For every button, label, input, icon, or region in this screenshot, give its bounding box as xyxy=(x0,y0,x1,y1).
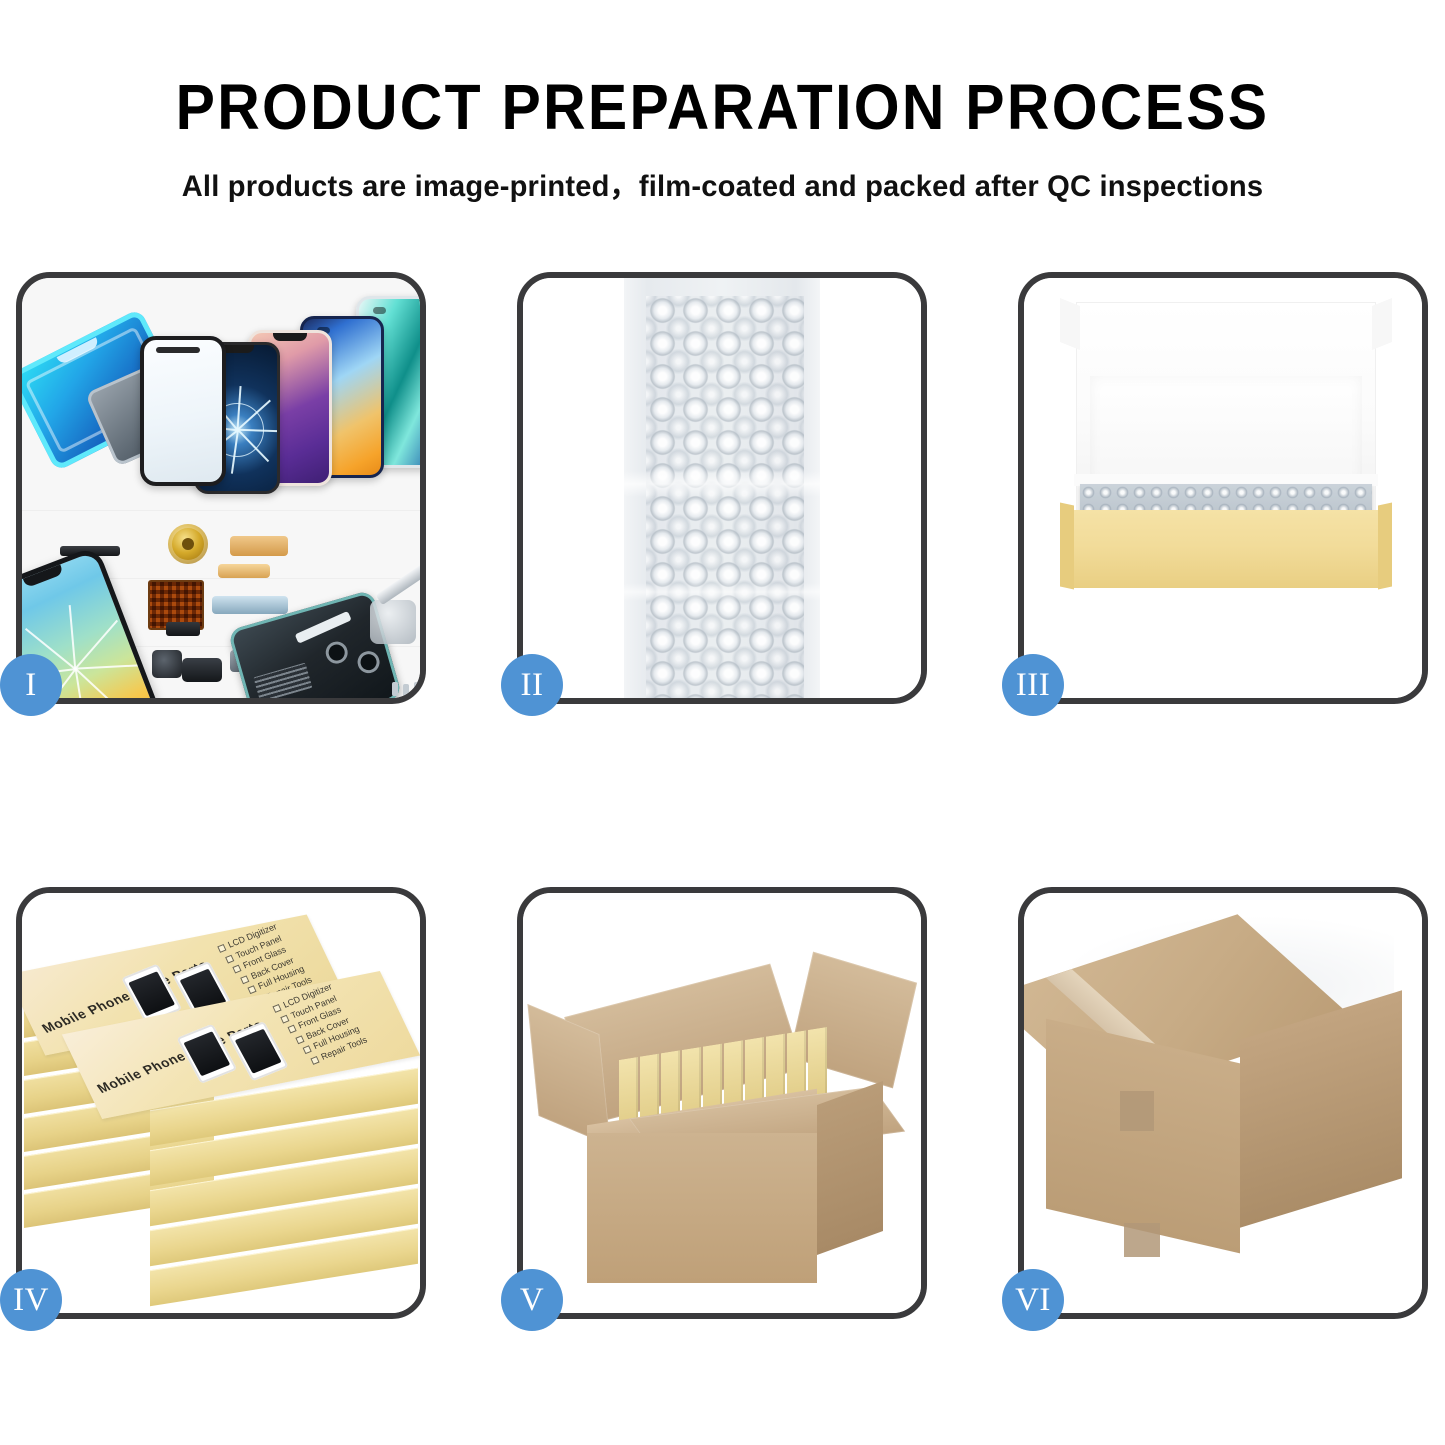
sealed-shipping-carton xyxy=(1024,893,1422,1313)
process-step-3[interactable]: III xyxy=(1018,272,1428,704)
wrap-sheen-upper xyxy=(624,471,820,497)
flex-cable-a xyxy=(230,536,288,556)
infographic-page: PRODUCT PREPARATION PROCESS All products… xyxy=(0,0,1445,1445)
screws-component xyxy=(392,682,420,696)
microphone-component xyxy=(166,622,200,636)
step-3-photo xyxy=(1024,278,1422,698)
step-5-photo xyxy=(523,893,921,1313)
flex-cable-b xyxy=(218,564,270,578)
process-step-grid: I II xyxy=(16,272,1429,1319)
carton-side-panel xyxy=(817,1081,883,1255)
process-step-6[interactable]: VI xyxy=(1018,887,1428,1319)
tape-tab-upper xyxy=(1120,1091,1154,1131)
repair-tool-tip xyxy=(370,600,416,644)
step-5-badge: V xyxy=(501,1269,563,1331)
page-subtitle: All products are image-printed，film-coat… xyxy=(22,161,1424,205)
bubble-wrap-sachet xyxy=(624,278,820,698)
process-step-2[interactable]: II xyxy=(517,272,927,704)
step-4-badge: IV xyxy=(0,1269,62,1331)
heading-block: PRODUCT PREPARATION PROCESS All products… xyxy=(0,0,1445,205)
step-6-badge: VI xyxy=(1002,1269,1064,1331)
wrap-sheen-lower xyxy=(624,583,820,601)
mailer-box-body xyxy=(1066,510,1386,588)
carton-front-panel xyxy=(587,1133,817,1283)
phone-screen-fan xyxy=(140,296,420,506)
step-2-badge: II xyxy=(501,654,563,716)
process-step-5[interactable]: V xyxy=(517,887,927,1319)
process-step-1[interactable]: I xyxy=(16,272,426,704)
camera-module-a xyxy=(152,650,182,678)
flex-cable-e xyxy=(212,596,288,614)
page-title: PRODUCT PREPARATION PROCESS xyxy=(58,74,1387,141)
step-4-photo: Mobile Phone Spare Parts LCD Digitizer T… xyxy=(22,893,420,1313)
repair-tool xyxy=(376,563,420,605)
box-stack: Mobile Phone Spare Parts LCD Digitizer T… xyxy=(22,893,420,1313)
open-shipping-carton xyxy=(523,893,921,1313)
box-checklist-front: LCD Digitizer Touch Panel Front Glass Ba… xyxy=(271,982,374,1067)
front-glass-part xyxy=(140,336,226,486)
step-3-badge: III xyxy=(1002,654,1064,716)
step-2-photo xyxy=(523,278,921,698)
camera-module-b xyxy=(182,658,222,682)
speaker-component xyxy=(168,524,208,564)
step-1-badge: I xyxy=(0,654,62,716)
process-step-4[interactable]: Mobile Phone Spare Parts LCD Digitizer T… xyxy=(16,887,426,1319)
step-6-photo xyxy=(1024,893,1422,1313)
step-1-photo xyxy=(22,278,420,698)
tape-tab-lower xyxy=(1124,1223,1160,1257)
